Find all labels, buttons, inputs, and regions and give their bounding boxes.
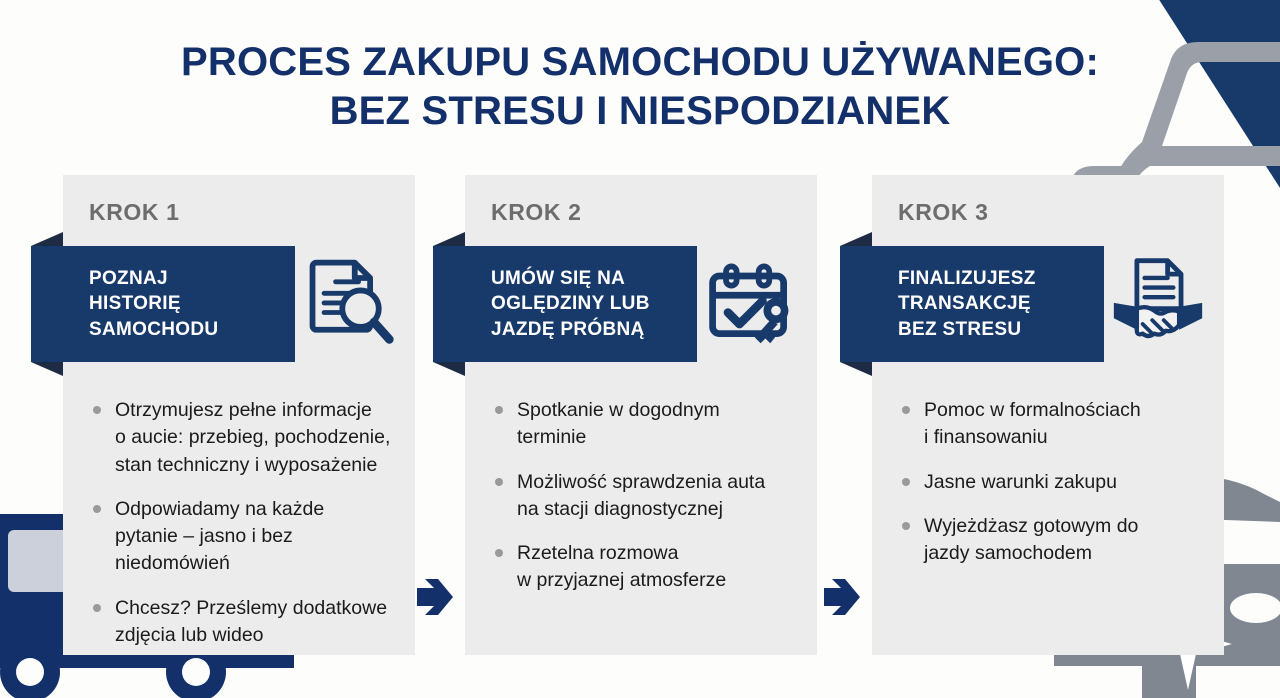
list-item: Otrzymujesz pełne informacje o aucie: pr… xyxy=(89,397,399,479)
step-label-2: KROK 2 xyxy=(491,199,582,226)
list-item: Odpowiadamy na każde pytanie – jasno i b… xyxy=(89,496,399,578)
banner-fold-bottom-1 xyxy=(31,362,63,376)
step-banner-text-3: FINALIZUJESZ TRANSAKCJĘ BEZ STRESU xyxy=(898,266,1036,341)
step-label-3: KROK 3 xyxy=(898,199,989,226)
step-bullets-1: Otrzymujesz pełne informacje o aucie: pr… xyxy=(89,397,399,666)
step-card-3[interactable]: KROK 3 FINALIZUJESZ TRANSAKCJĘ BEZ STRES… xyxy=(872,175,1224,655)
step-banner-3: FINALIZUJESZ TRANSAKCJĘ BEZ STRESU xyxy=(840,246,1104,362)
step-banner-2: UMÓW SIĘ NA OGLĘDZINY LUB JAZDĘ PRÓBNĄ xyxy=(433,246,697,362)
document-handshake-icon xyxy=(1110,253,1206,349)
banner-fold-top-3 xyxy=(840,232,872,246)
banner-fold-bottom-3 xyxy=(840,362,872,376)
title-line-2: BEZ STRESU I NIESPODZIANEK xyxy=(0,87,1280,136)
step-card-1[interactable]: KROK 1 POZNAJ HISTORIĘ SAMOCHODU Otrzymu… xyxy=(63,175,415,655)
arrow-step2-to-step3-icon xyxy=(820,575,864,619)
list-item: Rzetelna rozmowa w przyjaznej atmosferze xyxy=(491,540,801,595)
step-banner-1: POZNAJ HISTORIĘ SAMOCHODU xyxy=(31,246,295,362)
calendar-check-key-icon xyxy=(703,253,799,349)
page-title: PROCES ZAKUPU SAMOCHODU UŻYWANEGO: BEZ S… xyxy=(0,38,1280,136)
banner-fold-top-1 xyxy=(31,232,63,246)
list-item: Pomoc w formalnościach i finansowaniu xyxy=(898,397,1208,452)
list-item: Wyjeżdżasz gotowym do jazdy samochodem xyxy=(898,513,1208,568)
title-line-1: PROCES ZAKUPU SAMOCHODU UŻYWANEGO: xyxy=(0,38,1280,87)
step-bullets-2: Spotkanie w dogodnym terminie Możliwość … xyxy=(491,397,801,612)
steps-container: KROK 1 POZNAJ HISTORIĘ SAMOCHODU Otrzymu… xyxy=(0,175,1280,657)
step-label-1: KROK 1 xyxy=(89,199,180,226)
banner-fold-top-2 xyxy=(433,232,465,246)
step-card-2[interactable]: KROK 2 UMÓW SIĘ NA OGLĘDZINY LUB JAZDĘ P… xyxy=(465,175,817,655)
arrow-step1-to-step2-icon xyxy=(413,575,457,619)
list-item: Spotkanie w dogodnym terminie xyxy=(491,397,801,452)
step-bullets-3: Pomoc w formalnościach i finansowaniu Ja… xyxy=(898,397,1208,584)
step-banner-text-2: UMÓW SIĘ NA OGLĘDZINY LUB JAZDĘ PRÓBNĄ xyxy=(491,266,650,341)
list-item: Możliwość sprawdzenia auta na stacji dia… xyxy=(491,469,801,524)
step-banner-text-1: POZNAJ HISTORIĘ SAMOCHODU xyxy=(89,266,218,341)
list-item: Chcesz? Prześlemy dodatkowe zdjęcia lub … xyxy=(89,595,399,650)
banner-fold-bottom-2 xyxy=(433,362,465,376)
list-item: Jasne warunki zakupu xyxy=(898,469,1208,496)
document-magnifier-icon xyxy=(301,253,397,349)
